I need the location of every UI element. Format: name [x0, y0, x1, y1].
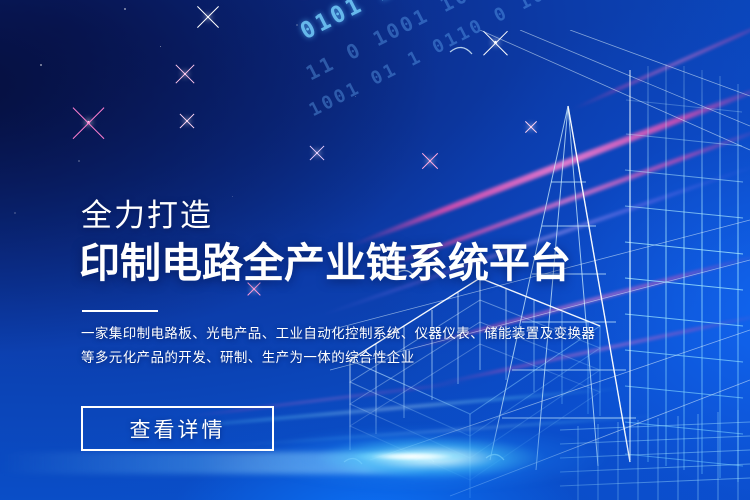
hero-headline: 印制电路全产业链系统平台	[79, 236, 571, 290]
hero-description: 一家集印制电路板、光电产品、工业自动化控制系统、仪器仪表、储能装置及变换器 等多…	[81, 322, 551, 370]
star-dot	[14, 212, 16, 214]
view-details-button[interactable]: 查看详情	[81, 406, 274, 451]
hero-eyebrow: 全力打造	[81, 197, 213, 235]
hero-description-line-1: 一家集印制电路板、光电产品、工业自动化控制系统、仪器仪表、储能装置及变换器	[81, 322, 551, 346]
hero-description-line-2: 等多元化产品的开发、研制、生产为一体的综合性企业	[81, 346, 551, 370]
star-dot	[78, 160, 80, 162]
star-dot	[40, 64, 42, 66]
hero-banner: 10 101 0 1001 101 1 0110 01 1001 0 0 110…	[0, 0, 750, 500]
hero-divider	[82, 310, 158, 312]
hero-content: 全力打造 印制电路全产业链系统平台 一家集印制电路板、光电产品、工业自动化控制系…	[81, 0, 681, 500]
